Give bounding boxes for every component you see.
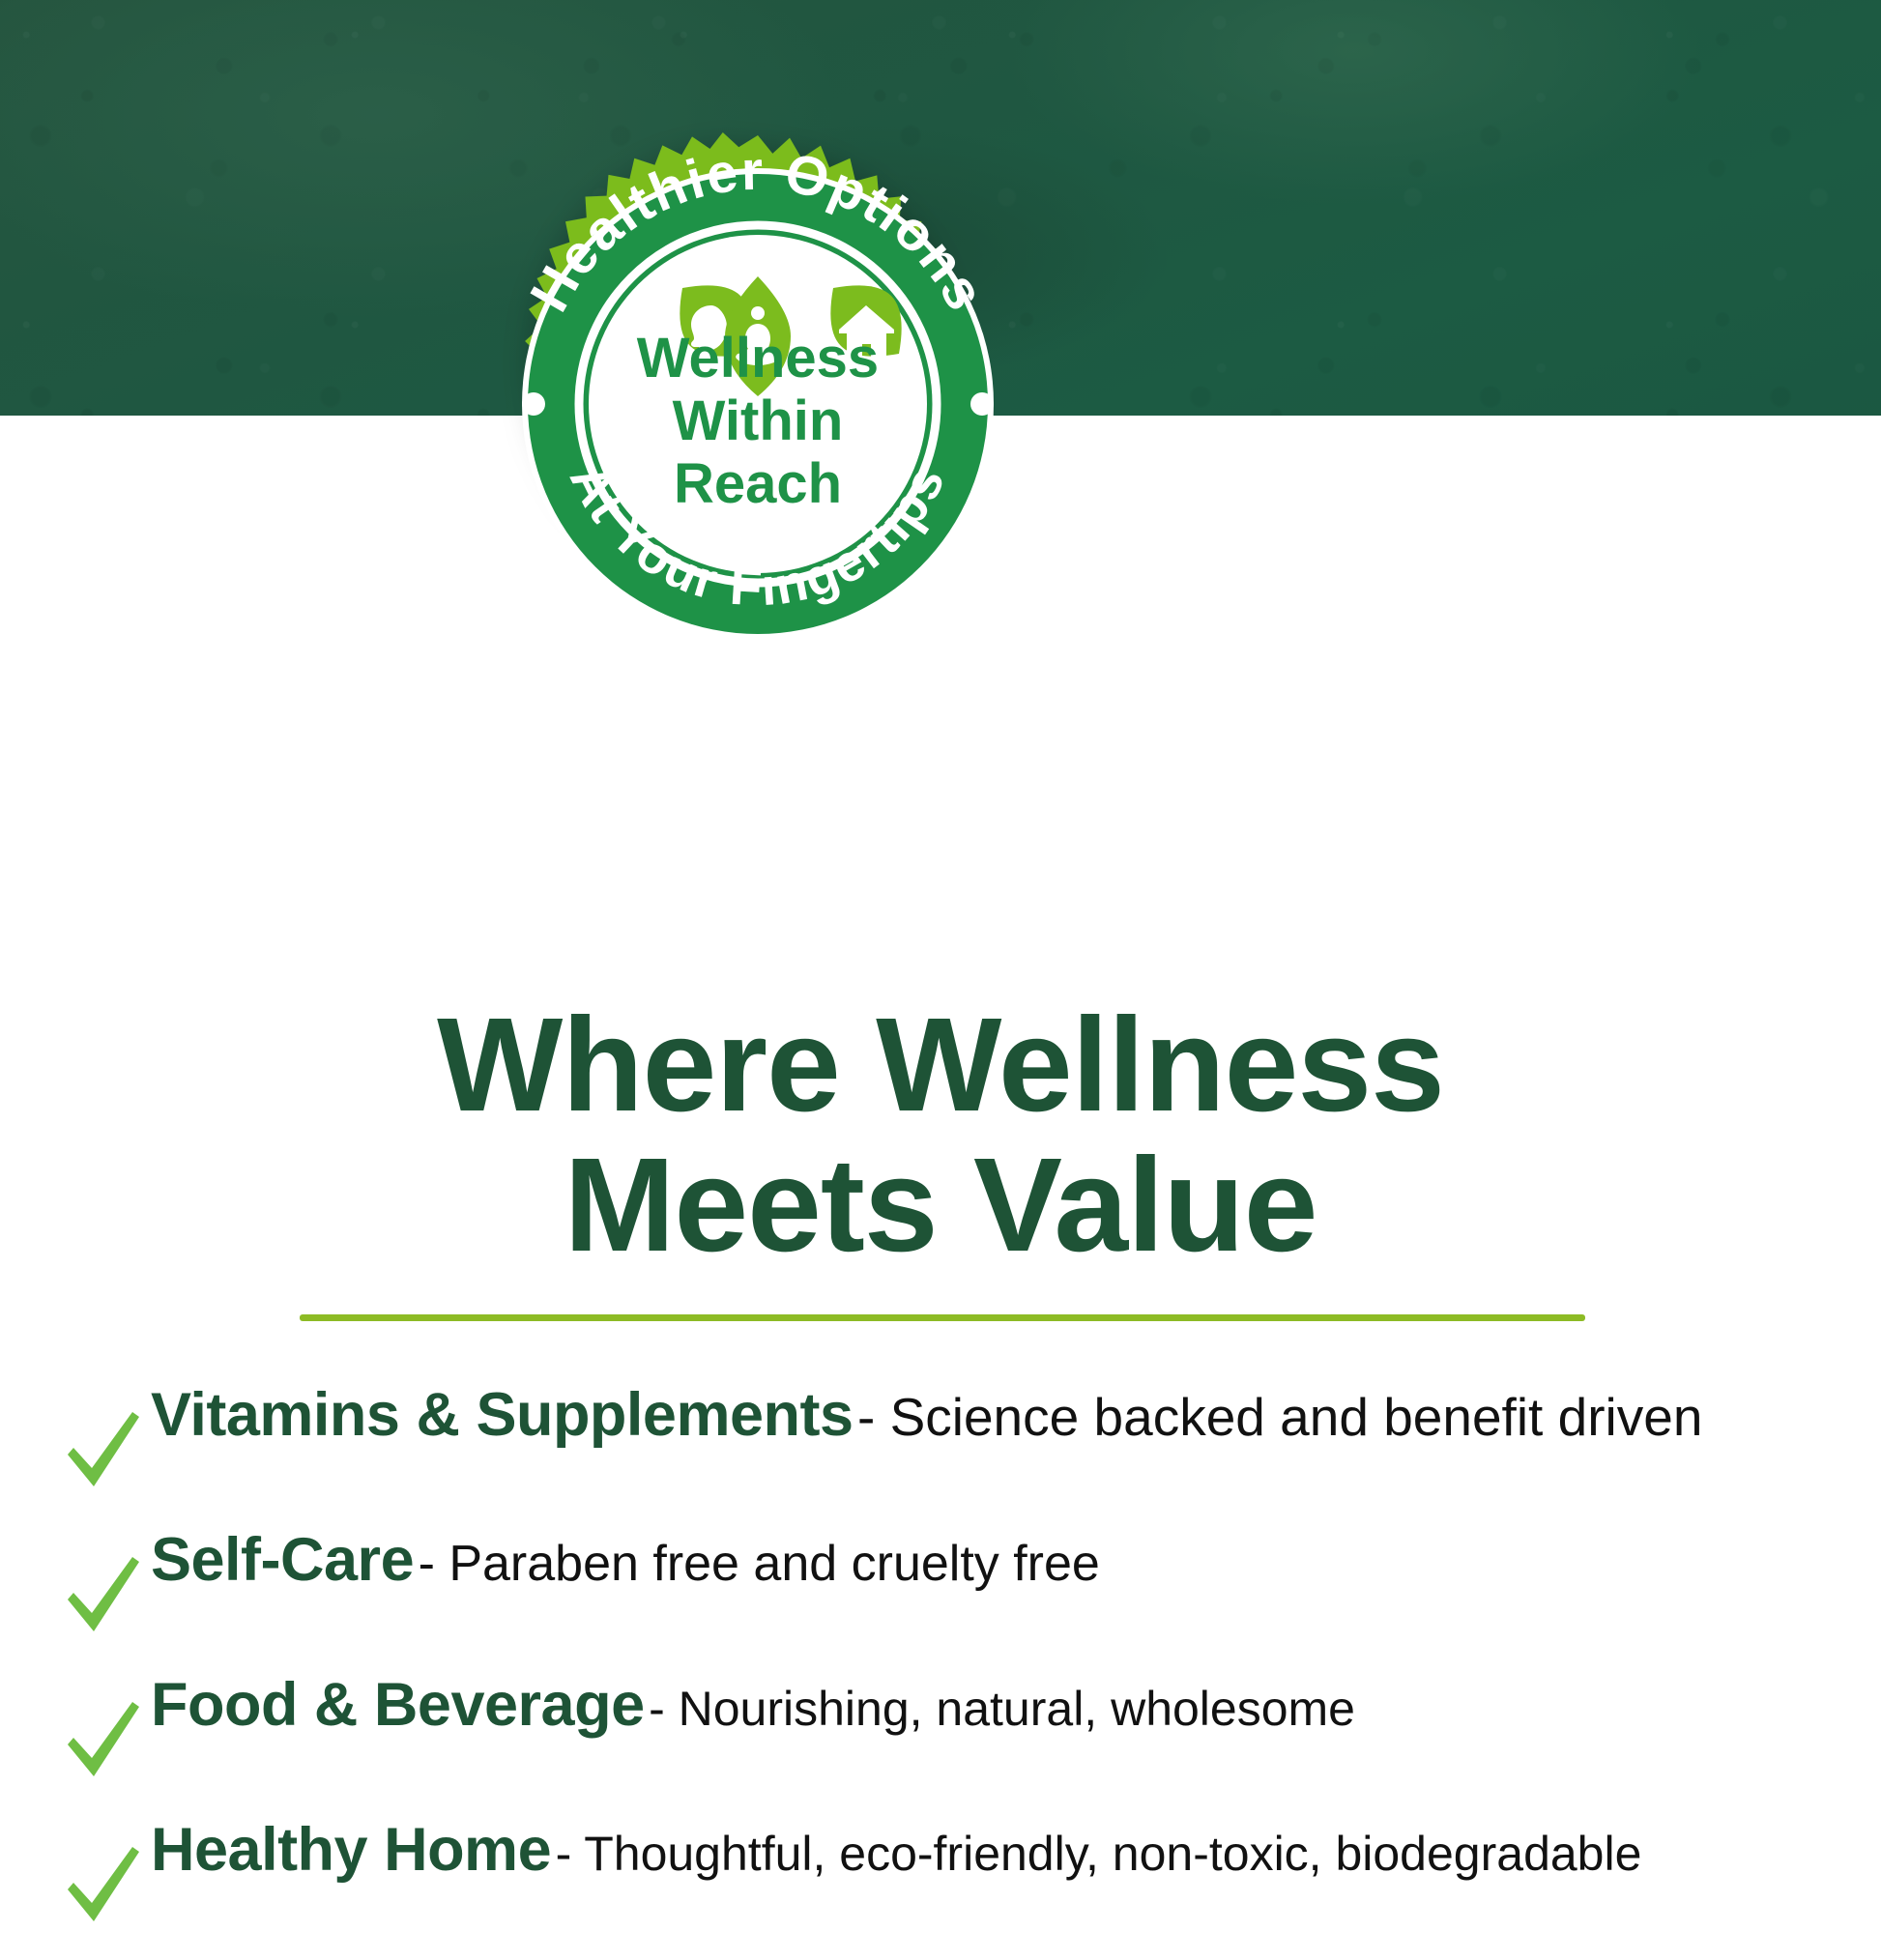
badge-center-line-3: Reach (674, 452, 842, 515)
checkmark-icon (62, 1841, 145, 1934)
badge-separator-dot-right (970, 392, 994, 416)
checkmark-icon (62, 1406, 145, 1499)
page-title-line-2: Meets Value (0, 1136, 1881, 1276)
list-item: Vitamins & Supplements - Science backed … (0, 1380, 1881, 1525)
list-item-title: Self-Care (151, 1526, 414, 1594)
benefits-list: Vitamins & Supplements - Science backed … (0, 1380, 1881, 1960)
list-item-text: Self-Care - Paraben free and cruelty fre… (151, 1525, 1100, 1595)
wellness-badge: Healthier Options At Your Fingertips (468, 114, 1048, 694)
badge-center-line-1: Wellness (637, 327, 879, 389)
page-title: Where Wellness Meets Value (0, 995, 1881, 1276)
section-divider (300, 1314, 1585, 1321)
page-title-line-1: Where Wellness (0, 995, 1881, 1136)
list-item-title: Vitamins & Supplements (151, 1381, 854, 1449)
list-item-desc: - Thoughtful, eco-friendly, non-toxic, b… (556, 1827, 1642, 1881)
list-item-desc: - Nourishing, natural, wholesome (649, 1682, 1355, 1736)
list-item-title: Healthy Home (151, 1816, 551, 1884)
badge-center-line-2: Within (673, 389, 844, 452)
list-item-desc: - Science backed and benefit driven (857, 1387, 1702, 1447)
list-item: Food & Beverage - Nourishing, natural, w… (0, 1670, 1881, 1815)
checkmark-icon (62, 1696, 145, 1789)
list-item: Self-Care - Paraben free and cruelty fre… (0, 1525, 1881, 1670)
list-item-desc: - Paraben free and cruelty free (419, 1536, 1100, 1592)
list-item-text: Healthy Home - Thoughtful, eco-friendly,… (151, 1815, 1641, 1885)
list-item-text: Food & Beverage - Nourishing, natural, w… (151, 1670, 1355, 1740)
list-item-title: Food & Beverage (151, 1671, 645, 1739)
list-item-text: Vitamins & Supplements - Science backed … (151, 1380, 1702, 1450)
badge-separator-dot-left (522, 392, 545, 416)
list-item: Healthy Home - Thoughtful, eco-friendly,… (0, 1815, 1881, 1960)
checkmark-icon (62, 1551, 145, 1644)
